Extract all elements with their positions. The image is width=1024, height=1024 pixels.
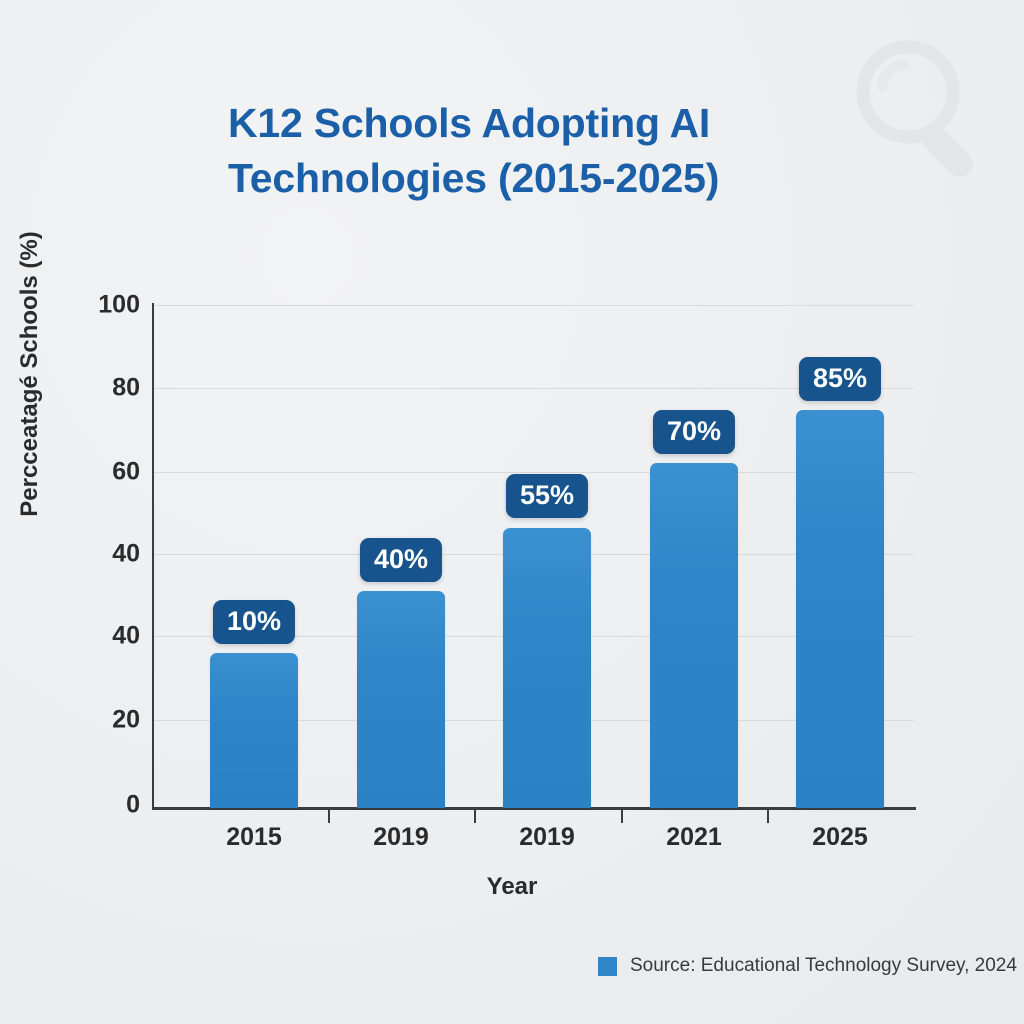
x-tick-mark-1 <box>474 810 476 823</box>
chart-canvas: K12 Schools Adopting AI Technologies (20… <box>0 0 1024 1024</box>
y-axis-line <box>152 303 154 810</box>
y-tick-label-1: 80 <box>88 374 140 403</box>
x-axis-title: Year <box>0 873 1024 901</box>
y-tick-label-4: 40 <box>88 622 140 651</box>
y-tick-label-3: 40 <box>88 540 140 569</box>
bar-value-label-2019-b: 55% <box>506 474 588 518</box>
bar-value-label-2015: 10% <box>213 600 295 644</box>
bar-2025[interactable] <box>796 410 884 808</box>
x-tick-label-4: 2025 <box>770 823 910 852</box>
bar-value-label-2019-a: 40% <box>360 538 442 582</box>
legend-label-source: Source: Educational Technology Survey, 2… <box>630 955 1017 977</box>
bar-2019-a[interactable] <box>357 591 445 808</box>
y-tick-label-6: 0 <box>88 791 140 820</box>
plot-wrapper: 100 80 60 40 40 20 0 10% 40% 55% 70% 85%… <box>0 0 1024 1024</box>
gridline-120 <box>152 305 914 306</box>
bar-2015[interactable] <box>210 653 298 808</box>
x-tick-mark-2 <box>621 810 623 823</box>
bar-2019-b[interactable] <box>503 528 591 808</box>
bar-value-label-2025: 85% <box>799 357 881 401</box>
x-tick-label-0: 2015 <box>184 823 324 852</box>
legend-color-swatch <box>598 957 617 976</box>
x-tick-mark-3 <box>767 810 769 823</box>
bar-2021[interactable] <box>650 463 738 808</box>
x-tick-label-1: 2019 <box>331 823 471 852</box>
x-tick-mark-0 <box>328 810 330 823</box>
y-tick-label-2: 60 <box>88 458 140 487</box>
y-tick-label-5: 20 <box>88 706 140 735</box>
y-axis-title: Percceatagé Schools (%) <box>16 164 44 584</box>
y-tick-label-0: 100 <box>88 291 140 320</box>
bar-value-label-2021: 70% <box>653 410 735 454</box>
legend: Source: Educational Technology Survey, 2… <box>598 955 1017 977</box>
x-tick-label-3: 2021 <box>624 823 764 852</box>
x-tick-label-2: 2019 <box>477 823 617 852</box>
